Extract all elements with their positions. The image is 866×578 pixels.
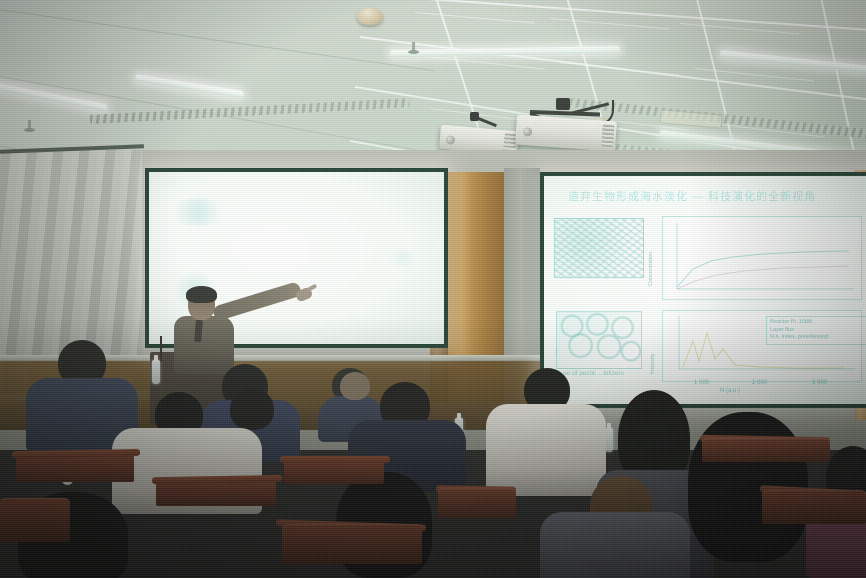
micrograph-spheres [556,311,642,369]
slide-title: 造弃生物形成海水淡化 — 科技演化的全新视角 [568,188,864,204]
slide-content: 造弃生物形成海水淡化 — 科技演化的全新视角 ...se of pectic .… [544,176,866,404]
ceiling-grid-line [689,0,751,175]
projector-mount [470,112,479,121]
chair-rail [280,456,390,463]
water-bottle [152,360,160,384]
smoke-detector-icon [357,8,383,25]
ceiling-tile-tick [680,23,800,34]
slide-faint-mark [167,198,229,226]
ceiling-grid-line [0,62,432,153]
presenter-hair [186,286,217,303]
attendee-head [340,372,370,400]
fluorescent-light-strip [0,74,108,111]
plot-bottom-tick-1: 1 000 [694,380,709,386]
auditorium-chair [762,490,866,524]
presenter-arm [212,281,302,322]
plot-top-curve [663,217,861,299]
ceiling-tile-tick [560,62,679,76]
legend-item: Reactor Pl. 1/986 [770,319,866,327]
ceiling-tile-tick [705,122,824,138]
plot-bottom-legend: Reactor Pl. 1/986 Layer flux N.h. index,… [766,316,866,345]
plot-bottom-ylabel: Intensity [650,318,656,374]
ceiling-grid-line [370,0,866,36]
auditorium-chair [438,488,516,518]
fluorescent-light-strip [390,46,620,57]
auditorium-chair [0,498,70,542]
projector-lens [446,135,456,145]
slide-faint-mark [385,250,421,266]
plot-top [662,216,862,300]
presenter [170,283,320,373]
projector-lens [523,127,533,137]
attendee-torso [486,404,606,496]
ceiling-tile-tick [695,68,814,82]
sprinkler-head-icon [412,42,415,52]
legend-item: Layer flux [770,327,866,335]
projection-screen-right[interactable]: 造弃生物形成海水淡化 — 科技演化的全新视角 ...se of pectic .… [540,172,866,408]
micrograph-fibrous [554,218,644,278]
attendee-head [230,388,274,430]
presenter-torso [174,316,234,374]
auditorium-chair [282,524,422,564]
fluorescent-light-strip [134,74,244,98]
plot-bottom-tick-2: 2 000 [752,380,767,386]
ceiling-tile-tick [415,12,535,23]
projector-mount [556,98,570,110]
air-vent-icon [90,98,410,124]
attendee-torso [540,512,690,578]
sprinkler-head-icon [28,120,31,130]
ceiling-tile-tick [425,56,544,70]
auditorium-chair [702,438,830,462]
fluorescent-light-strip [720,50,866,77]
ceiling-grid-line [814,0,866,175]
ceiling-label-plate [660,109,723,128]
legend-item: N.h. index, pore/desorpt [770,334,866,342]
plot-top-ylabel: Concentration [648,228,654,286]
plot-bottom-tick-3: 3 000 [812,380,827,386]
water-bottle [605,428,613,452]
microphone-stand [160,336,162,362]
plot-bottom-xlabel: N (a.u.) [720,388,740,394]
ceiling-grid-line [0,0,435,71]
projector-vents [601,124,615,148]
lecture-hall-photo: 造弃生物形成海水淡化 — 科技演化的全新视角 ...se of pectic .… [0,0,866,578]
ceiling-tile-tick [550,18,670,29]
